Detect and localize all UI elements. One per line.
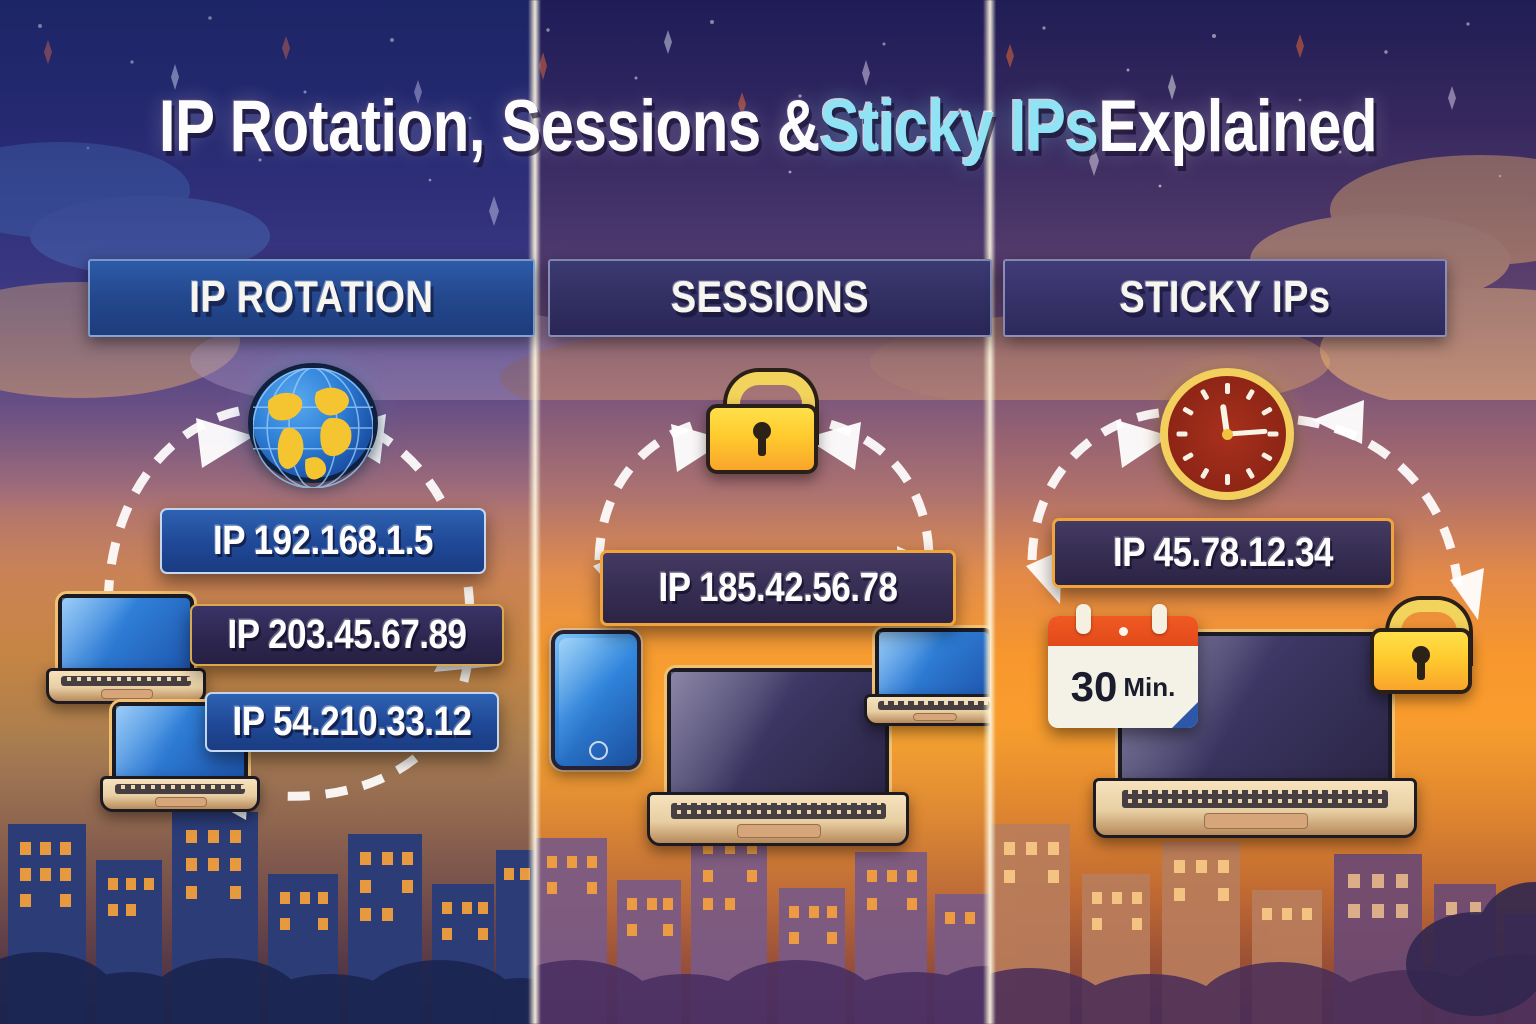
banner-sessions: SESSIONS (548, 259, 992, 337)
padlock-icon (1370, 600, 1464, 694)
ip-label: IP 45.78.12.34 (1052, 518, 1394, 588)
calendar-ring (1076, 604, 1091, 634)
title-highlight: Sticky IPs (820, 84, 1099, 168)
ip-address-text: IP 45.78.12.34 (1113, 530, 1333, 576)
banner-ip-rotation: IP ROTATION (88, 259, 535, 337)
laptop-base (864, 694, 990, 726)
laptop-base (100, 776, 260, 812)
laptop-device (875, 628, 990, 720)
laptop-base (46, 668, 206, 704)
banner-label: STICKY IPs (1119, 273, 1330, 324)
calendar-number: 30 (1071, 666, 1118, 708)
skyline-night (0, 764, 535, 1024)
ip-address-text: IP 192.168.1.5 (213, 518, 433, 564)
banner-sticky-ips: STICKY IPs (1003, 259, 1447, 337)
calendar-ring (1152, 604, 1167, 634)
globe-icon (248, 363, 378, 483)
ip-address-text: IP 185.42.56.78 (658, 565, 897, 611)
page-title: IP Rotation, Sessions & Sticky IPs Expla… (0, 84, 1536, 168)
laptop-base (1093, 778, 1416, 838)
tablet-device (551, 630, 641, 770)
calendar-header (1048, 616, 1198, 646)
ip-label: IP 54.210.33.12 (205, 692, 499, 752)
laptop-device-primary (667, 668, 889, 840)
ip-address-text: IP 54.210.33.12 (232, 699, 471, 745)
ip-label: IP 192.168.1.5 (160, 508, 486, 574)
calendar-unit: Min. (1123, 674, 1175, 700)
banner-label: IP ROTATION (189, 273, 433, 324)
ip-label: IP 203.45.67.89 (190, 604, 504, 666)
title-part-one: IP Rotation, Sessions & (159, 84, 820, 168)
calendar-badge: 30 Min. (1048, 616, 1198, 728)
infographic-canvas: IP Rotation, Sessions & Sticky IPs Expla… (0, 0, 1536, 1024)
laptop-screen (875, 628, 990, 702)
laptop-screen (667, 668, 889, 800)
padlock-icon (706, 372, 810, 474)
laptop-screen (58, 594, 194, 676)
ip-address-text: IP 203.45.67.89 (227, 612, 466, 658)
laptop-base (647, 792, 909, 846)
banner-label: SESSIONS (671, 273, 869, 324)
title-part-three: Explained (1098, 84, 1377, 168)
clock-icon (1160, 368, 1294, 500)
laptop-device (58, 594, 194, 698)
ip-label: IP 185.42.56.78 (600, 550, 956, 626)
